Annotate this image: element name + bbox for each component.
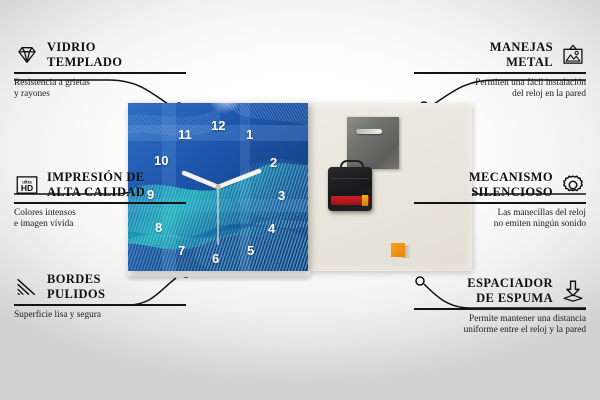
feature-title-line2: TEMPLADO (47, 55, 122, 70)
feature-title-line1: MANEJAS (490, 40, 553, 55)
feature-vidrio-templado: VIDRIO TEMPLADO Resistencia a grietas y … (14, 40, 186, 101)
feature-desc-line1: Permiten una fácil instalación (414, 78, 586, 90)
infographic-canvas: 12 1 2 3 4 5 6 7 8 9 10 11 (0, 0, 600, 400)
gear-icon (560, 172, 586, 198)
feature-divider (414, 72, 586, 74)
feature-head: VIDRIO TEMPLADO (14, 40, 186, 69)
feature-manejas-metal: MANEJAS METAL Permiten una fácil instala… (414, 40, 586, 101)
feature-title-line2: METAL (490, 55, 553, 70)
feature-title-line1: ESPACIADOR (467, 276, 553, 291)
feature-title-line1: MECANISMO (469, 170, 553, 185)
clock-minute-hand (218, 171, 259, 187)
feature-divider (414, 308, 586, 310)
ultra-hd-icon-large-label: HD (21, 183, 33, 193)
feature-desc-line1: Colores intensos (14, 208, 186, 220)
feature-title-line1: VIDRIO (47, 40, 122, 55)
clock-hour-hand (184, 173, 218, 187)
feature-impresion-alta-calidad: ultra HD IMPRESIÓN DE ALTA CALIDAD Color… (14, 170, 186, 231)
feature-desc-line2: e imagen vívida (14, 219, 186, 231)
feature-head: ultra HD IMPRESIÓN DE ALTA CALIDAD (14, 170, 186, 199)
feature-desc-line2: del reloj en la pared (414, 89, 586, 101)
feature-desc-line1: Superficie lisa y segura (14, 310, 186, 322)
feature-desc-line1: Permite mantener una distancia (414, 314, 586, 326)
battery-terminal (362, 195, 368, 206)
diamond-icon (14, 42, 40, 68)
feature-desc-line2: uniforme entre el reloj y la pared (414, 325, 586, 337)
foam-spacer (391, 243, 405, 257)
feature-divider (14, 72, 186, 74)
feature-desc-line1: Resistencia a grietas (14, 78, 186, 90)
feature-bordes-pulidos: BORDES PULIDOS Superficie lisa y segura (14, 272, 186, 321)
mechanism-seam (331, 178, 369, 179)
feature-title-line1: IMPRESIÓN DE (47, 170, 145, 185)
feature-desc-line1: Las manecillas del reloj (414, 208, 586, 220)
feature-desc-line2: no emiten ningún sonido (414, 219, 586, 231)
feature-divider (14, 304, 186, 306)
feature-title-line2: SILENCIOSO (469, 185, 553, 200)
ultra-hd-icon: ultra HD (14, 172, 40, 198)
picture-frame-hanger-icon (560, 42, 586, 68)
feature-head: ESPACIADOR DE ESPUMA (414, 276, 586, 305)
feature-desc-line2: y rayones (14, 89, 186, 101)
feature-divider (414, 202, 586, 204)
hanger-keyhole-slot (356, 129, 382, 134)
feature-head: BORDES PULIDOS (14, 272, 186, 301)
feature-title-line2: DE ESPUMA (467, 291, 553, 306)
feature-espaciador-de-espuma: ESPACIADOR DE ESPUMA Permite mantener un… (414, 276, 586, 337)
feature-divider (14, 202, 186, 204)
feature-title-line2: PULIDOS (47, 287, 105, 302)
feature-title-line1: BORDES (47, 272, 105, 287)
feature-title-line2: ALTA CALIDAD (47, 185, 145, 200)
arrow-down-onto-pad-icon (560, 278, 586, 304)
feature-mecanismo-silencioso: MECANISMO SILENCIOSO Las manecillas del … (414, 170, 586, 231)
polished-edges-icon (14, 274, 40, 300)
feature-head: MECANISMO SILENCIOSO (414, 170, 586, 199)
feature-head: MANEJAS METAL (414, 40, 586, 69)
clock-center-cap (215, 184, 220, 189)
